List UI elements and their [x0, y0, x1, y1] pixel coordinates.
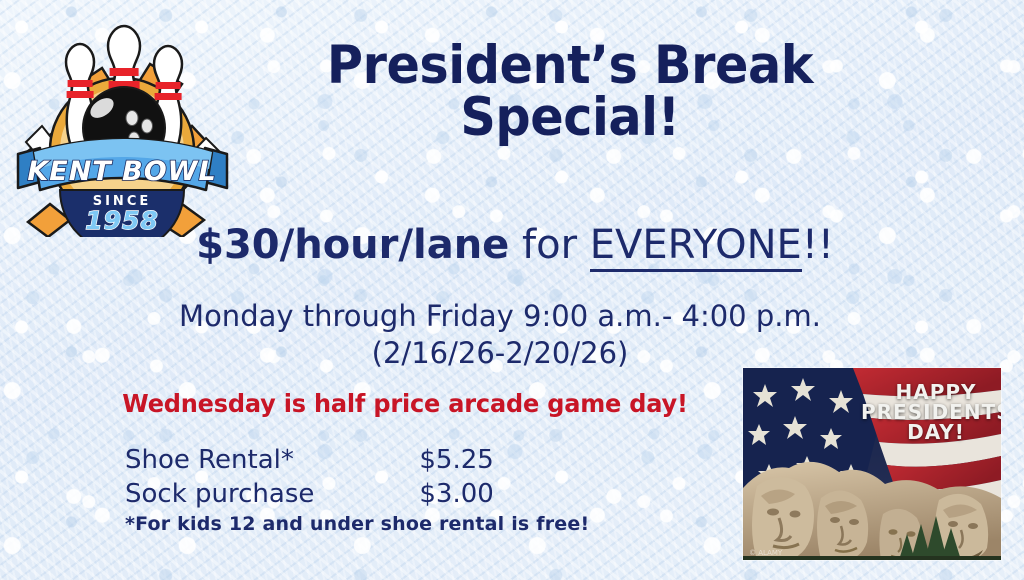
pricing-table: Shoe Rental* $5.25 Sock purchase $3.00: [125, 446, 494, 514]
mount-rushmore-graphic: [743, 368, 1001, 560]
poster-canvas: KENT BOWL SINCE 1958 President’s Break S…: [0, 0, 1024, 580]
mount-rushmore-photo: HAPPY PRESIDENTS DAY! © ALAMY: [743, 368, 1001, 560]
table-row: Sock purchase $3.00: [125, 480, 494, 514]
offer-audience: EVERYONE: [590, 222, 802, 272]
face-jefferson: [817, 490, 868, 560]
schedule-days-hours: Monday through Friday 9:00 a.m.- 4:00 p.…: [179, 299, 821, 333]
schedule-dates: (2/16/26-2/20/26): [100, 335, 900, 372]
photo-credit: © ALAMY: [749, 549, 782, 557]
face-washington: [752, 477, 814, 560]
logo-banner-text: KENT BOWL: [27, 156, 216, 187]
sock-purchase-label: Sock purchase: [125, 480, 314, 514]
headline-line-2: Special!: [272, 92, 867, 144]
shoe-rental-price: $5.25: [314, 446, 493, 480]
headline-line-1: President’s Break: [272, 40, 867, 92]
kent-bowl-logo: KENT BOWL SINCE 1958: [10, 22, 235, 237]
sock-purchase-price: $3.00: [314, 480, 493, 514]
offer-exclaim: !!: [802, 222, 834, 268]
arcade-promo-text: Wednesday is half price arcade game day!: [74, 389, 736, 418]
schedule-block: Monday through Friday 9:00 a.m.- 4:00 p.…: [100, 298, 900, 372]
offer-connector: for: [509, 222, 589, 268]
kent-bowl-logo-graphic: KENT BOWL SINCE 1958: [10, 22, 235, 237]
shoe-rental-label: Shoe Rental*: [125, 446, 314, 480]
pricing-footnote: *For kids 12 and under shoe rental is fr…: [125, 513, 589, 535]
offer-line: $30/hour/lane for EVERYONE!!: [120, 222, 910, 268]
offer-amount: $30/hour/lane: [196, 222, 509, 268]
page-title: President’s Break Special!: [272, 40, 867, 144]
table-row: Shoe Rental* $5.25: [125, 446, 494, 480]
